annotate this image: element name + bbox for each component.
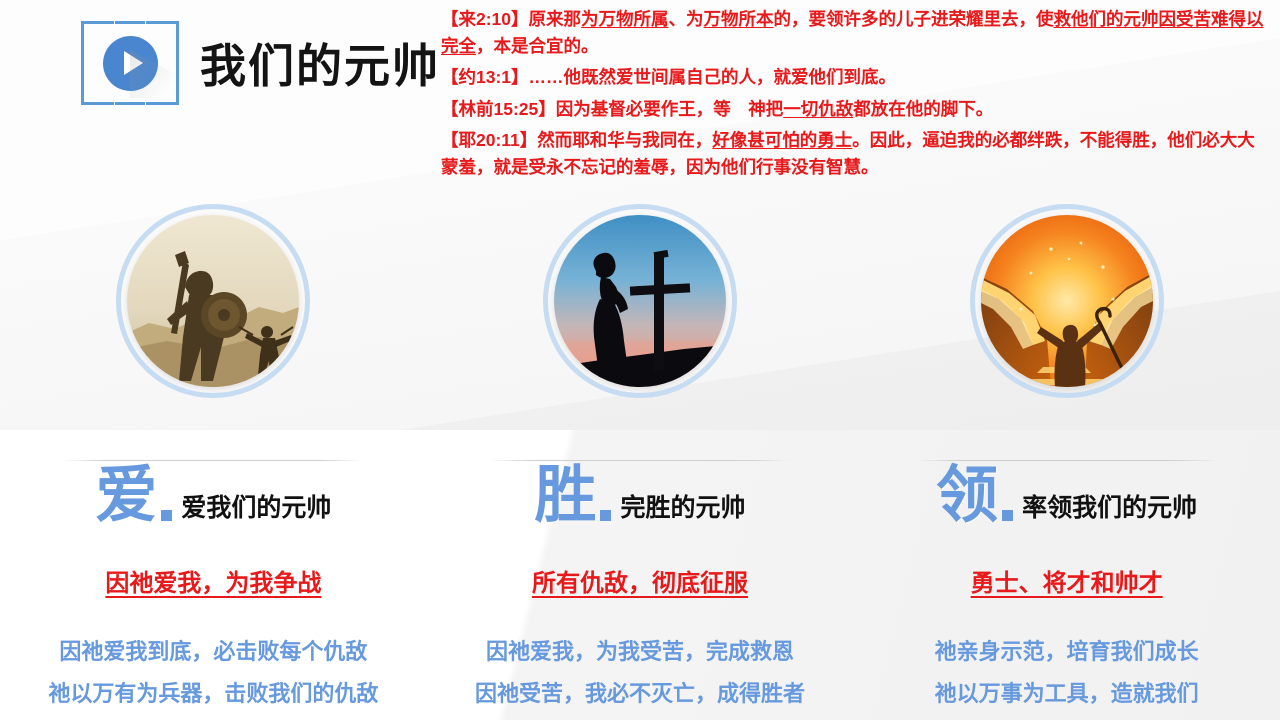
scripture-reference: 【来2:10】	[441, 9, 529, 29]
frame-edge-left	[81, 49, 84, 77]
column-subheading: 爱我们的元帅	[181, 488, 331, 524]
column-love: 爱 爱我们的元帅 因祂爱我，为我争战 因祂爱我到底，必击败每个仇敌 祂以万有为兵…	[0, 196, 427, 720]
body-line: 祂以万有为兵器，击败我们的仇敌	[48, 673, 378, 715]
column-heading: 领 率领我们的元帅	[936, 465, 1197, 527]
scripture-reference: 【约13:1】	[441, 67, 529, 87]
column-victory: 胜 完胜的元帅 所有仇敌，彻底征服 因祂爱我，为我受苦，完成救恩 因祂受苦，我必…	[427, 196, 854, 720]
frame-edge-right	[176, 49, 179, 77]
column-subheading: 完胜的元帅	[620, 488, 745, 524]
praying-silhouette-with-cross-image	[543, 204, 737, 398]
scripture-text: 然而耶和华与我同在，	[537, 130, 712, 150]
column-body: 因祂爱我，为我受苦，完成救恩 因祂受苦，我必不灭亡，成得胜者	[475, 631, 805, 715]
column-body: 祂亲身示范，培育我们成长 祂以万事为工具，造就我们	[935, 631, 1199, 715]
column-body: 因祂爱我到底，必击败每个仇敌 祂以万有为兵器，击败我们的仇敌	[48, 631, 378, 715]
square-bullet-icon	[1002, 510, 1013, 521]
body-line: 祂以万事为工具，造就我们	[935, 673, 1199, 715]
column-heading: 爱 爱我们的元帅	[95, 465, 331, 527]
scripture-verse: 【林前15:25】因为基督必要作王，等 神把一切仇敌都放在他的脚下。	[441, 96, 1269, 123]
column-heading: 胜 完胜的元帅	[534, 465, 745, 527]
square-bullet-icon	[161, 510, 172, 521]
column-big-character: 胜	[534, 465, 596, 527]
scripture-emphasis: 好像甚可怕的勇士	[712, 130, 852, 150]
logo-glare	[130, 50, 188, 98]
photo-ring	[116, 204, 310, 398]
moses-parting-the-red-sea-image	[970, 204, 1164, 398]
scripture-block: 【来2:10】原来那为万物所属、为万物所本的，要领许多的儿子进荣耀里去，使救他们…	[441, 6, 1269, 186]
page-title: 我们的元帅	[200, 30, 440, 96]
scripture-text: 都放在他的脚下。	[853, 99, 993, 119]
column-big-character: 爱	[95, 465, 157, 527]
photo-ring	[543, 204, 737, 398]
scripture-text: ，本是合宜的。	[476, 36, 599, 56]
scripture-text: 原来那	[529, 9, 582, 29]
scripture-text: 因为基督必要作王，等 神把	[556, 99, 784, 119]
scripture-text: 的，要领许多的儿子进荣耀里去，使	[774, 9, 1054, 29]
scripture-reference: 【林前15:25】	[441, 99, 556, 119]
scripture-verse: 【约13:1】……他既然爱世间属自己的人，就爱他们到底。	[441, 64, 1269, 91]
photo-ring	[970, 204, 1164, 398]
body-line: 因祂受苦，我必不灭亡，成得胜者	[475, 673, 805, 715]
body-line: 因祂爱我到底，必击败每个仇敌	[48, 631, 378, 673]
column-red-heading: 所有仇敌，彻底征服	[532, 563, 748, 598]
frame-edge-bottom	[115, 102, 145, 105]
column-subheading: 率领我们的元帅	[1022, 488, 1197, 524]
body-line: 祂亲身示范，培育我们成长	[935, 631, 1199, 673]
scripture-verse: 【耶20:11】然而耶和华与我同在，好像甚可怕的勇士。因此，逼迫我的必都绊跌，不…	[441, 127, 1269, 180]
scripture-text: 、为	[669, 9, 704, 29]
scripture-verse: 【来2:10】原来那为万物所属、为万物所本的，要领许多的儿子进荣耀里去，使救他们…	[441, 6, 1269, 59]
frame-edge-top	[115, 21, 145, 24]
column-red-heading: 勇士、将才和帅才	[971, 563, 1163, 598]
column-big-character: 领	[936, 465, 998, 527]
slide-header: 我们的元帅 【来2:10】原来那为万物所属、为万物所本的，要领许多的儿子进荣耀里…	[0, 0, 1280, 200]
play-button-in-frame-icon	[78, 16, 182, 110]
scripture-text: ……他既然爱世间属自己的人，就爱他们到底。	[529, 67, 897, 87]
scripture-emphasis: 一切仇敌	[783, 99, 853, 119]
scripture-emphasis: 万物所本	[704, 9, 774, 29]
square-bullet-icon	[600, 510, 611, 521]
slide-canvas: 我们的元帅 【来2:10】原来那为万物所属、为万物所本的，要领许多的儿子进荣耀里…	[0, 0, 1280, 720]
scripture-emphasis: 为万物所属	[581, 9, 669, 29]
goliath-and-david-battle-silhouette-image	[116, 204, 310, 398]
brand-lockup: 我们的元帅	[78, 16, 440, 110]
column-red-heading: 因祂爱我，为我争战	[105, 563, 321, 598]
scripture-reference: 【耶20:11】	[441, 130, 537, 150]
column-lead: 领 率领我们的元帅 勇士、将才和帅才 祂亲身示范，培育我们成长 祂以万事为工具，…	[853, 196, 1280, 720]
body-line: 因祂爱我，为我受苦，完成救恩	[475, 631, 805, 673]
three-column-section: 爱 爱我们的元帅 因祂爱我，为我争战 因祂爱我到底，必击败每个仇敌 祂以万有为兵…	[0, 196, 1280, 720]
